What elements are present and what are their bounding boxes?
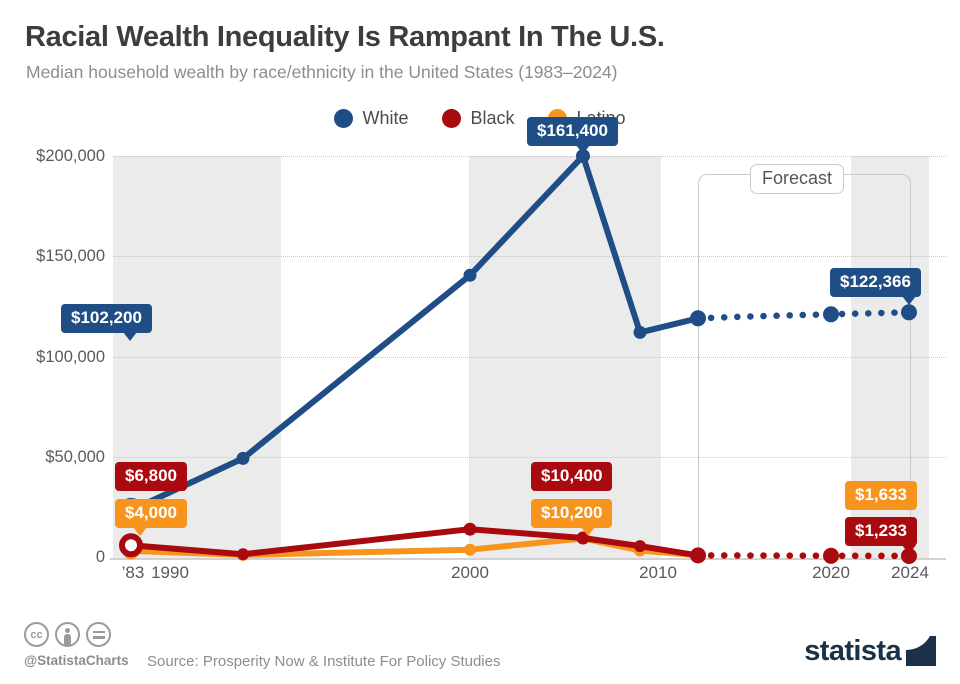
y-tick-150000: $150,000 bbox=[1, 247, 105, 266]
statista-logo-text: statista bbox=[804, 637, 901, 666]
series-point-white-2024 bbox=[901, 304, 917, 320]
callout-black-2007: $10,400 bbox=[531, 462, 612, 491]
series-line-white-actual bbox=[131, 156, 698, 510]
cc-nd-equals-icon bbox=[86, 622, 111, 647]
y-tick-0: 0 bbox=[1, 548, 105, 567]
legend-item-black[interactable]: Black bbox=[442, 108, 514, 129]
callout-tail bbox=[576, 145, 590, 154]
callout-tail bbox=[902, 296, 916, 305]
x-axis: ’83 1990 2000 2010 2020 2024 bbox=[113, 563, 946, 591]
callout-latino-2007: $10,200 bbox=[531, 499, 612, 528]
statista-logo-mark bbox=[906, 636, 936, 666]
plot-area: Forecast $102,200 $161,400 $122,366 $6,8… bbox=[113, 156, 946, 559]
chart-legend: White Black Latino bbox=[0, 108, 960, 129]
series-point-black-2001 bbox=[464, 523, 477, 536]
series-point-black-2020 bbox=[823, 548, 839, 564]
callout-tail bbox=[133, 527, 147, 536]
callout-black-1983-text: $6,800 bbox=[125, 466, 177, 485]
callout-black-2024-text: $1,233 bbox=[855, 521, 907, 540]
callout-latino-1983: $4,000 bbox=[115, 499, 187, 528]
callout-white-2024-text: $122,366 bbox=[840, 272, 911, 291]
series-point-latino-2001 bbox=[464, 544, 476, 556]
callout-white-2024: $122,366 bbox=[830, 268, 921, 297]
series-point-black-2010 bbox=[634, 540, 646, 552]
callout-tail bbox=[581, 527, 595, 536]
y-axis: $200,000 $150,000 $100,000 $50,000 0 bbox=[0, 156, 105, 559]
callout-black-2024: $1,233 bbox=[845, 517, 917, 546]
statista-logo: statista bbox=[804, 636, 936, 666]
x-tick-1983: ’83 bbox=[122, 563, 145, 583]
series-point-white-2010 bbox=[634, 326, 647, 339]
legend-label-white: White bbox=[362, 108, 408, 129]
callout-tail bbox=[902, 545, 916, 554]
y-tick-100000: $100,000 bbox=[1, 348, 105, 367]
series-line-white-forecast bbox=[698, 312, 909, 318]
series-point-white-2001 bbox=[464, 269, 477, 282]
series-point-white-2020 bbox=[823, 306, 839, 322]
page-subtitle: Median household wealth by race/ethnicit… bbox=[26, 62, 618, 83]
footer: cc @StatistaCharts Source: Prosperity No… bbox=[0, 608, 960, 684]
legend-swatch-white bbox=[334, 109, 353, 128]
series-point-white-2013 bbox=[690, 310, 706, 326]
legend-label-black: Black bbox=[470, 108, 514, 129]
x-tick-2020: 2020 bbox=[812, 563, 850, 583]
x-tick-2024: 2024 bbox=[891, 563, 929, 583]
callout-black-2007-text: $10,400 bbox=[541, 466, 602, 485]
x-tick-2000: 2000 bbox=[451, 563, 489, 583]
legend-item-white[interactable]: White bbox=[334, 108, 408, 129]
callout-latino-2024: $1,633 bbox=[845, 481, 917, 510]
series-point-white-1989 bbox=[237, 452, 250, 465]
series-line-black-forecast bbox=[698, 555, 909, 556]
callout-latino-2024-text: $1,633 bbox=[855, 485, 907, 504]
callout-white-2007: $161,400 bbox=[527, 117, 618, 146]
y-tick-50000: $50,000 bbox=[1, 448, 105, 467]
statista-handle: @StatistaCharts bbox=[24, 653, 129, 668]
series-layer bbox=[113, 156, 946, 559]
cc-icon: cc bbox=[24, 622, 49, 647]
x-tick-2010: 2010 bbox=[639, 563, 677, 583]
forecast-label: Forecast bbox=[750, 164, 844, 194]
callout-latino-1983-text: $4,000 bbox=[125, 503, 177, 522]
callout-white-2007-text: $161,400 bbox=[537, 121, 608, 140]
cc-by-person-icon bbox=[55, 622, 80, 647]
callout-white-1983-text: $102,200 bbox=[71, 308, 142, 327]
series-point-black-2013 bbox=[690, 547, 706, 563]
series-point-black-1989 bbox=[237, 548, 249, 560]
series-point-black-1983 bbox=[122, 536, 140, 554]
callout-latino-2007-text: $10,200 bbox=[541, 503, 602, 522]
x-tick-1990: 1990 bbox=[151, 563, 189, 583]
callout-white-1983: $102,200 bbox=[61, 304, 152, 333]
callout-black-1983: $6,800 bbox=[115, 462, 187, 491]
creative-commons-icons: cc bbox=[24, 622, 111, 647]
source-text: Source: Prosperity Now & Institute For P… bbox=[147, 653, 500, 670]
statista-chart: Racial Wealth Inequality Is Rampant In T… bbox=[0, 0, 960, 684]
page-title: Racial Wealth Inequality Is Rampant In T… bbox=[25, 21, 665, 54]
y-tick-200000: $200,000 bbox=[1, 147, 105, 166]
legend-swatch-black bbox=[442, 109, 461, 128]
callout-tail bbox=[123, 332, 137, 341]
